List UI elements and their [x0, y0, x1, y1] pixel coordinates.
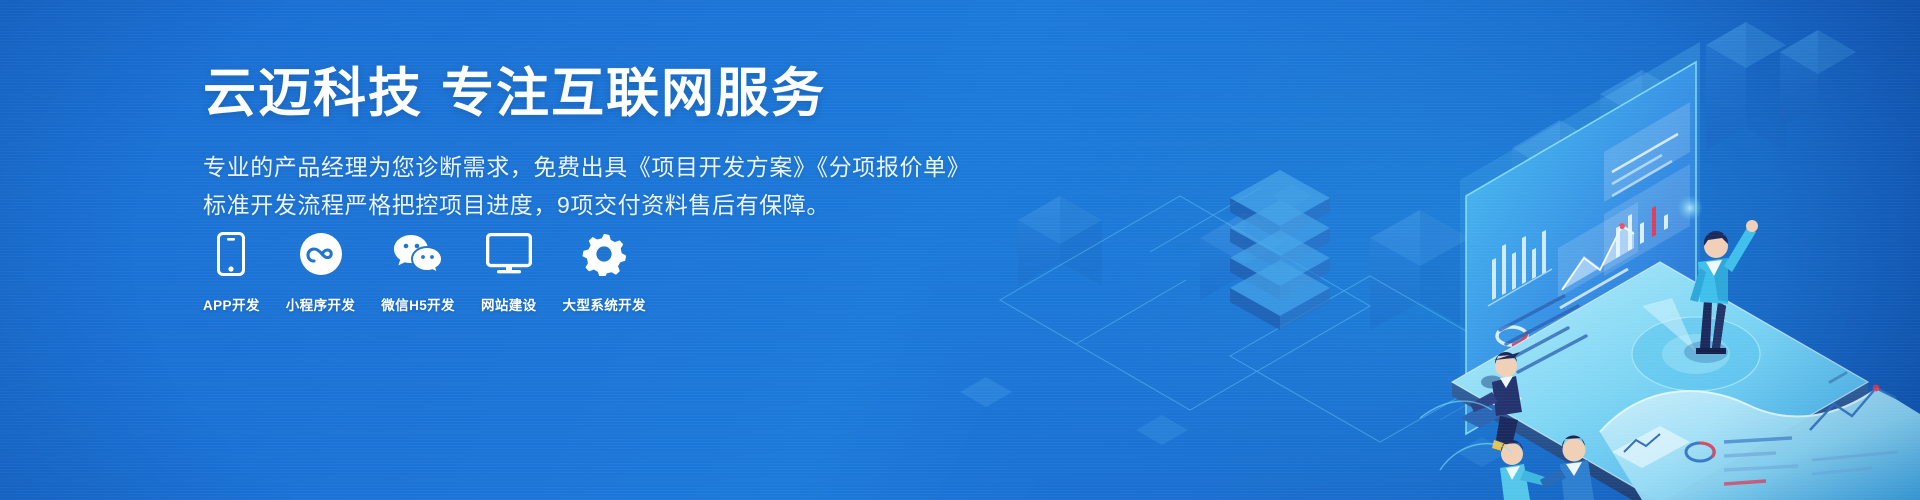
- service-item-wechat[interactable]: 微信H5开发: [381, 228, 455, 314]
- service-list: APP开发 小程序开发 微信: [203, 228, 646, 314]
- service-item-mini-program[interactable]: 小程序开发: [286, 228, 356, 314]
- gear-icon: [582, 228, 626, 280]
- mini-program-icon: [298, 228, 344, 280]
- service-label: APP开发: [203, 294, 260, 314]
- promo-banner: 云迈科技专注互联网服务 专业的产品经理为您诊断需求，免费出具《项目开发方案》《分…: [0, 0, 1920, 500]
- subtitle-line-1: 专业的产品经理为您诊断需求，免费出具《项目开发方案》《分项报价单》: [203, 149, 943, 186]
- service-item-app[interactable]: APP开发: [203, 228, 260, 314]
- monitor-icon: [486, 228, 532, 280]
- mobile-phone-icon: [217, 228, 245, 280]
- subtitle: 专业的产品经理为您诊断需求，免费出具《项目开发方案》《分项报价单》 标准开发流程…: [203, 149, 943, 224]
- copy-block: 云迈科技专注互联网服务 专业的产品经理为您诊断需求，免费出具《项目开发方案》《分…: [203, 64, 943, 224]
- title-part1: 云迈科技: [203, 64, 423, 123]
- service-item-large-system[interactable]: 大型系统开发: [563, 228, 646, 314]
- service-label: 大型系统开发: [563, 294, 646, 314]
- illustration: [900, 0, 1920, 500]
- service-label: 微信H5开发: [381, 294, 455, 314]
- service-label: 小程序开发: [286, 294, 356, 314]
- service-label: 网站建设: [481, 294, 537, 314]
- service-item-website[interactable]: 网站建设: [481, 228, 537, 314]
- title-part2: 专注互联网服务: [441, 64, 826, 123]
- wechat-icon: [393, 228, 443, 280]
- page-title: 云迈科技专注互联网服务: [203, 64, 943, 123]
- subtitle-line-2: 标准开发流程严格把控项目进度，9项交付资料售后有保障。: [203, 187, 943, 224]
- server-stack: [1230, 170, 1330, 330]
